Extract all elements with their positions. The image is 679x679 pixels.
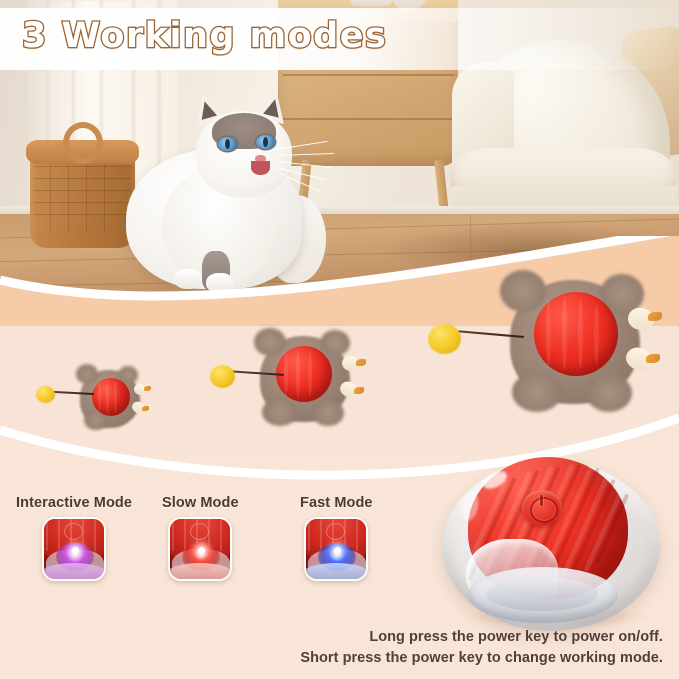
cat-eye-left xyxy=(218,137,237,151)
mode-label-interactive: Interactive Mode xyxy=(16,495,132,511)
power-icon xyxy=(530,497,558,523)
instruction-line-2: Short press the power key to change work… xyxy=(0,648,663,669)
title-banner: 3 Working modes xyxy=(0,8,679,70)
wheel-ring xyxy=(42,563,106,581)
mode-label-fast: Fast Mode xyxy=(300,495,373,511)
pom-pom-medium xyxy=(210,365,235,388)
basket-handle xyxy=(63,122,103,164)
mode-list: Interactive Mode Slow Mode xyxy=(0,495,410,625)
wheel-ring xyxy=(168,563,232,581)
mode-thumbnail-interactive[interactable] xyxy=(42,517,106,581)
instruction-line-1: Long press the power key to power on/off… xyxy=(0,627,663,648)
cat-mouth xyxy=(251,161,270,175)
mode-thumbnail-slow[interactable] xyxy=(168,517,232,581)
power-icon-bar xyxy=(540,495,543,506)
product-hero-image xyxy=(420,455,679,635)
product-marketing-image: Interactive Mode Slow Mode xyxy=(0,0,679,679)
mode-label-slow: Slow Mode xyxy=(162,495,239,511)
led-spark xyxy=(72,547,79,554)
wheel-ring xyxy=(304,563,368,581)
plush-ball-large xyxy=(400,274,679,414)
mode-card-interactive[interactable]: Interactive Mode xyxy=(16,495,132,581)
pom-pom-large xyxy=(428,324,461,354)
clear-wheel-inner xyxy=(486,577,598,611)
mode-thumbnail-fast[interactable] xyxy=(304,517,368,581)
pottery-bowl xyxy=(350,0,392,6)
page-title: 3 Working modes xyxy=(22,16,387,56)
mode-card-fast[interactable]: Fast Mode xyxy=(300,495,373,581)
smiley-emboss-icon xyxy=(64,523,83,540)
cat-eye-right xyxy=(256,135,275,149)
instruction-text: Long press the power key to power on/off… xyxy=(0,627,679,669)
mode-card-slow[interactable]: Slow Mode xyxy=(162,495,239,581)
